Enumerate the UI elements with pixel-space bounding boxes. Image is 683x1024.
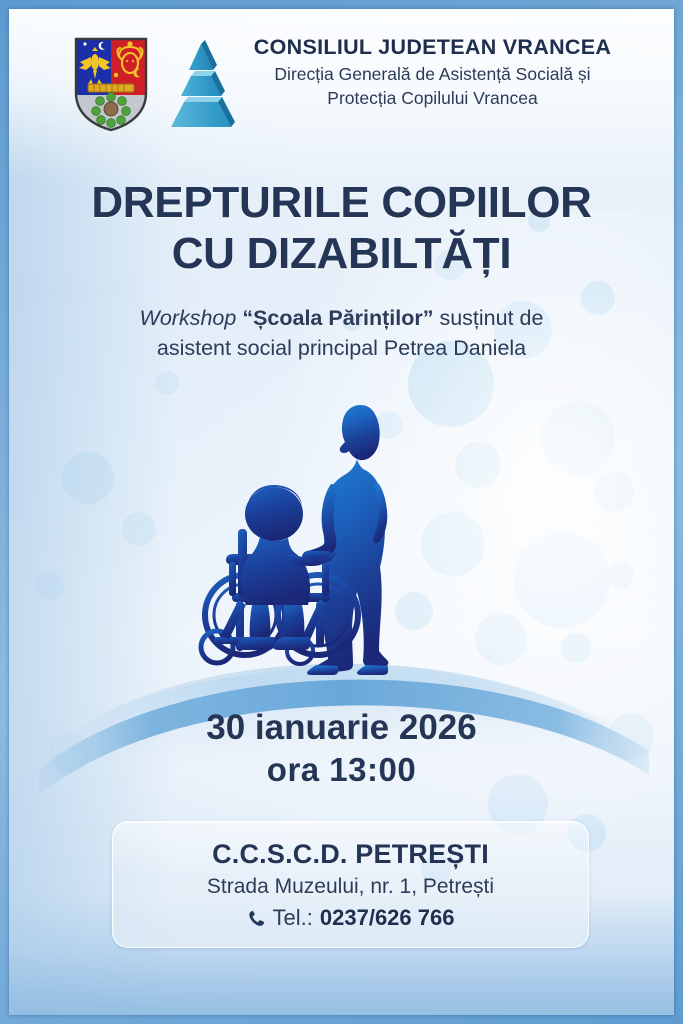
poster-root: CONSILIUL JUDETEAN VRANCEA Direcția Gene… <box>0 0 683 1024</box>
blue-pyramid-logo-icon <box>160 35 242 135</box>
title-line-1: DREPTURILE COPIILOR <box>91 178 591 227</box>
poster-subtitle: Workshop “Școala Părinților” susținut de… <box>9 304 674 363</box>
phone-row: Tel.: 0237/626 766 <box>131 905 570 931</box>
organization-block: CONSILIUL JUDETEAN VRANCEA Direcția Gene… <box>254 35 611 109</box>
phone-label: Tel.: <box>273 905 313 931</box>
poster-frame: CONSILIUL JUDETEAN VRANCEA Direcția Gene… <box>9 9 674 1015</box>
poster-title: DREPTURILE COPIILOR CU DIZABILTĂȚI <box>9 177 674 279</box>
contact-panel: C.C.S.C.D. PETREȘTI Strada Muzeului, nr.… <box>112 821 589 948</box>
venue-address: Strada Muzeului, nr. 1, Petrești <box>131 875 570 899</box>
org-line-3: Protecția Copilului Vrancea <box>254 88 611 109</box>
phone-number: 0237/626 766 <box>320 905 455 931</box>
event-datetime: 30 ianuarie 2026 ora 13:00 <box>9 707 674 790</box>
subtitle-after-quote: susținut de <box>433 306 543 330</box>
venue-name: C.C.S.C.D. PETREȘTI <box>131 839 570 870</box>
org-line-1: CONSILIUL JUDETEAN VRANCEA <box>254 35 611 61</box>
phone-handset-icon <box>247 909 266 928</box>
title-line-2: CU DIZABILTĂȚI <box>9 228 674 279</box>
subtitle-line-2: asistent social principal Petrea Daniela <box>9 334 674 364</box>
org-line-2: Direcția Generală de Asistență Socială ș… <box>254 64 611 85</box>
event-time: ora 13:00 <box>9 750 674 790</box>
poster-header: CONSILIUL JUDETEAN VRANCEA Direcția Gene… <box>9 29 674 135</box>
woman-and-child-in-wheelchair-silhouette <box>192 379 492 679</box>
vrancea-county-coat-of-arms-icon <box>72 35 150 133</box>
event-date: 30 ianuarie 2026 <box>9 707 674 750</box>
subtitle-quoted-name: “Școala Părinților” <box>242 306 433 330</box>
subtitle-workshop-word: Workshop <box>140 306 237 330</box>
